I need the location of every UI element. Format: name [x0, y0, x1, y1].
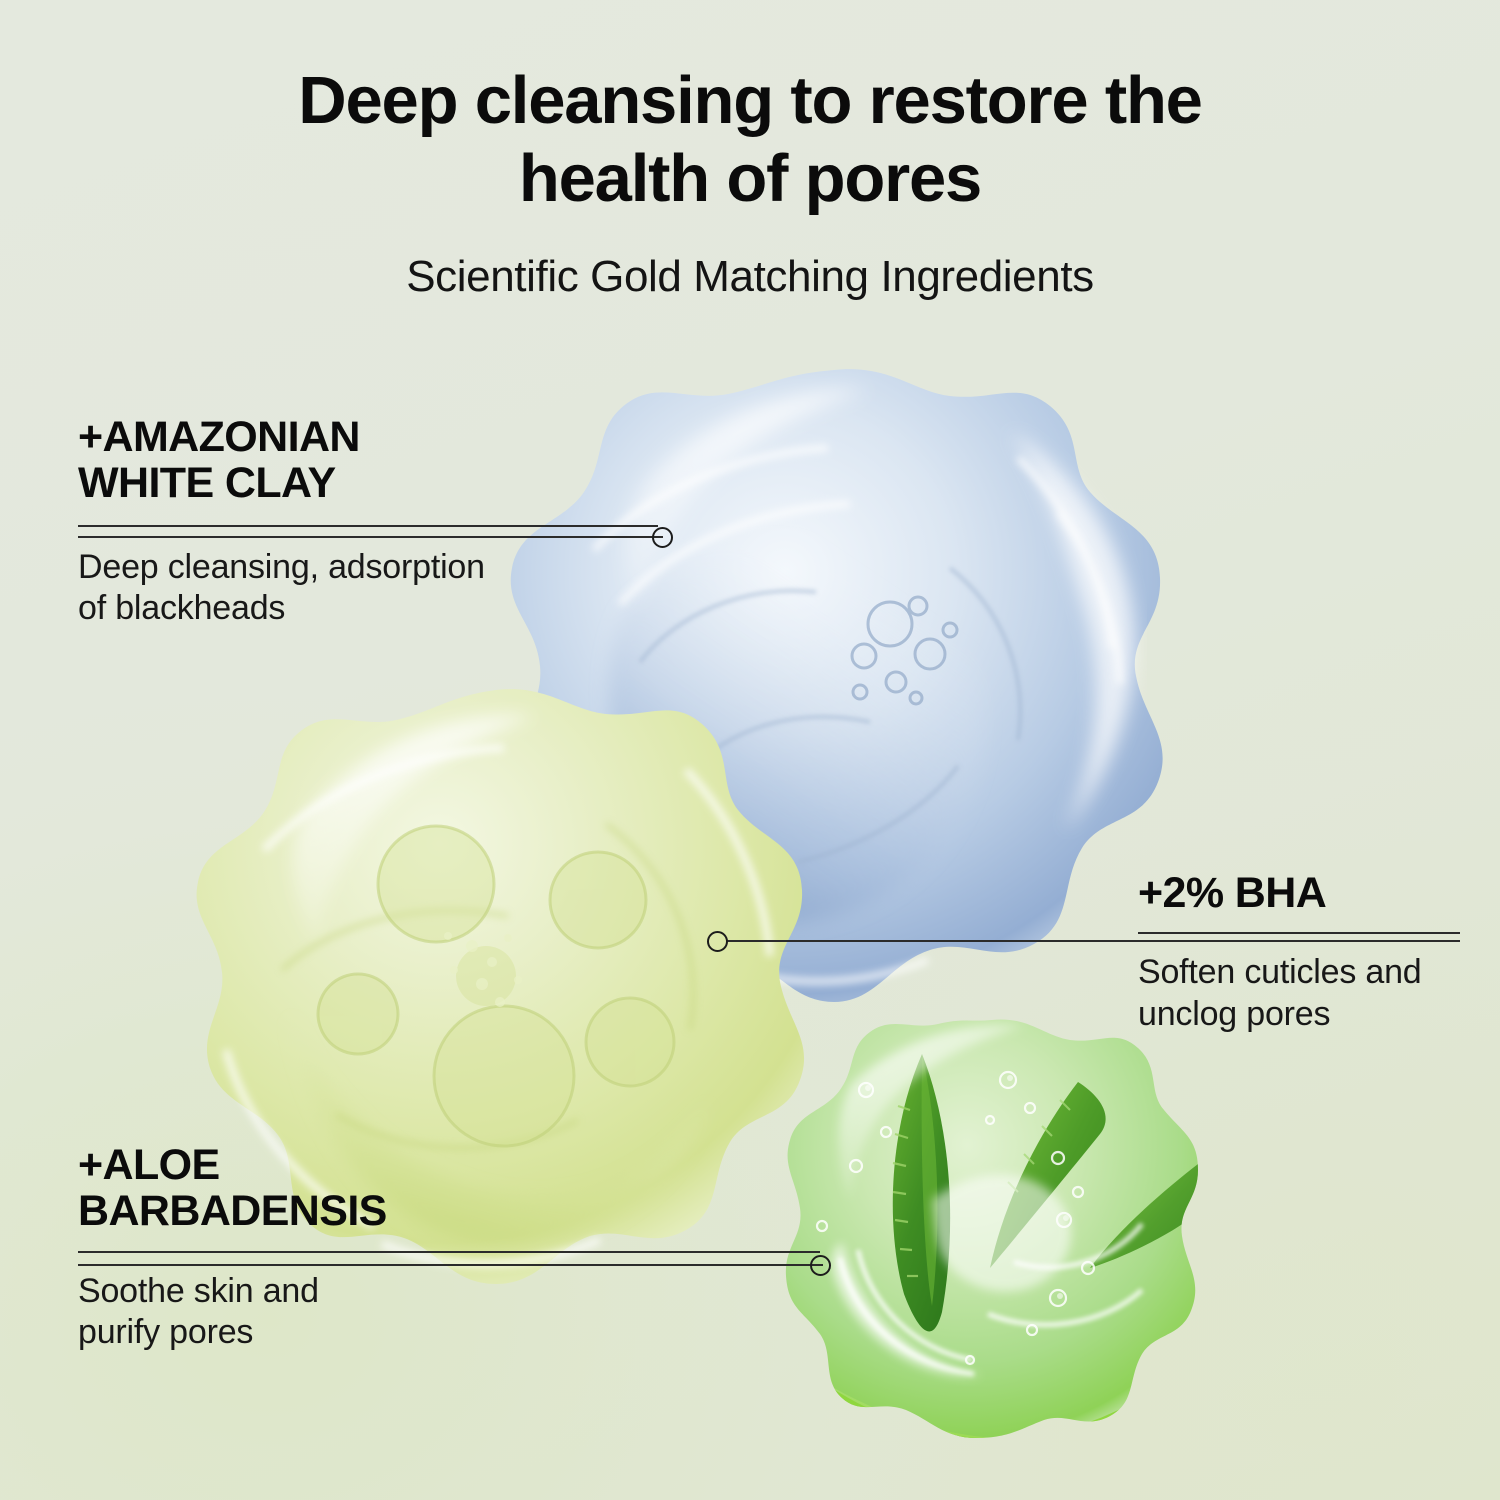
- connector-dot-aloe: [810, 1255, 831, 1276]
- connector-dot-clay: [652, 527, 673, 548]
- connector-line-bha: [726, 940, 1460, 942]
- connector-line-aloe: [78, 1264, 823, 1266]
- ingredient-infographic: Deep cleansing to restore the health of …: [0, 0, 1500, 1500]
- connector-dot-bha: [707, 931, 728, 952]
- connector-overlay: [0, 0, 1500, 1500]
- connector-line-clay: [78, 536, 663, 538]
